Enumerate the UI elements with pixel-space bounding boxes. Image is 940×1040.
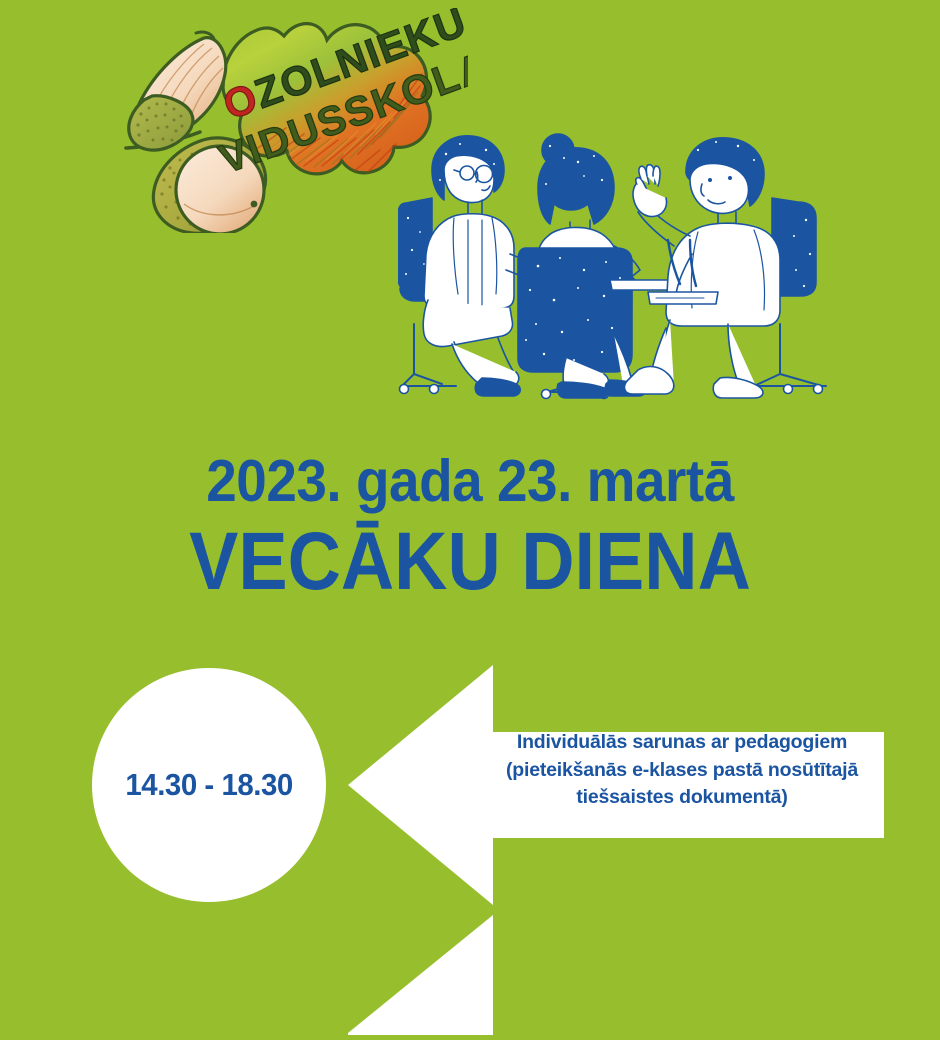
- info-arrow-callout: Individuālās sarunas ar pedagogiem (piet…: [348, 663, 884, 940]
- time-badge: 14.30 - 18.30: [92, 668, 326, 902]
- three-people-meeting-illustration: [398, 128, 858, 410]
- headline-block: 2023. gada 23. martā VECĀKU DIENA: [0, 452, 940, 605]
- callout-text: Individuālās sarunas ar pedagogiem (piet…: [496, 729, 868, 812]
- time-range-label: 14.30 - 18.30: [125, 767, 292, 803]
- acorn-nut-dot: [251, 201, 258, 208]
- callout-line-2: (pieteikšanās e-klases pastā nosūtītajā: [496, 757, 868, 785]
- arrow-shape-partial: [348, 915, 884, 1035]
- poster-canvas: OZOLNIEKU VIDUSSKOLA: [0, 0, 940, 940]
- illustration-artwork: [398, 128, 858, 410]
- person-center-back-view: [518, 134, 645, 399]
- acorn-upper: [129, 32, 226, 150]
- person-right-writing: [625, 138, 780, 398]
- callout-line-1: Individuālās sarunas ar pedagogiem: [496, 729, 868, 757]
- callout-line-3: tiešsaistes dokumentā): [496, 784, 868, 812]
- info-arrow-callout-partial: [348, 915, 884, 1035]
- page-title: VECĀKU DIENA: [47, 519, 893, 605]
- event-date: 2023. gada 23. martā: [33, 452, 907, 511]
- acorn-cap-upper: [129, 96, 193, 150]
